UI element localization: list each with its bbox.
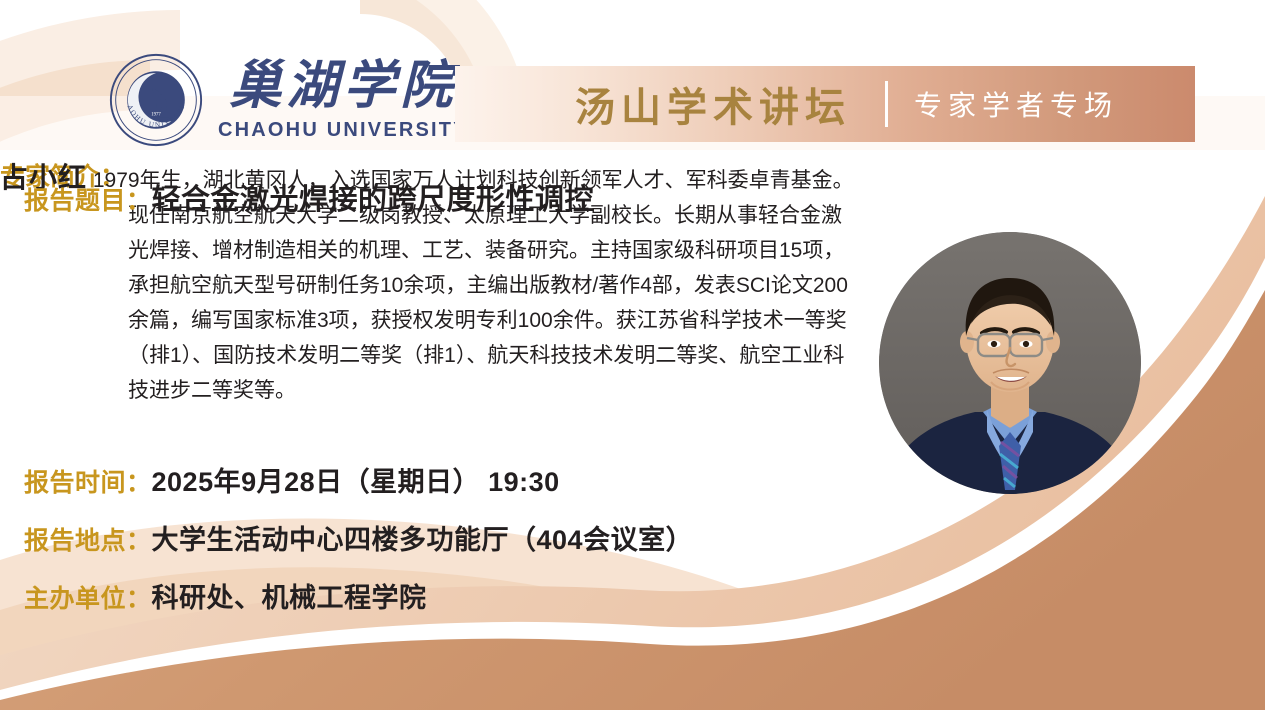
lecture-host-value: 科研处、机械工程学院 xyxy=(152,576,427,615)
speaker-portrait xyxy=(879,232,1141,494)
lecture-time-value: 2025年9月28日（星期日） 19:30 xyxy=(152,460,560,499)
lecture-host-label: 主办单位： xyxy=(24,579,152,615)
university-emblem-icon: 1977 CHAOHU UNIVERSITY xyxy=(108,52,204,148)
lecture-host-row: 主办单位： 科研处、机械工程学院 xyxy=(24,576,427,615)
series-banner: 汤山学术讲坛 专家学者专场 xyxy=(455,66,1195,142)
lecture-place-label: 报告地点： xyxy=(24,521,152,557)
emblem-year-text: 1977 xyxy=(151,112,161,117)
banner-divider xyxy=(885,81,888,127)
university-name-cn: 巢湖学院 xyxy=(229,61,457,113)
lecture-time-label: 报告时间： xyxy=(24,463,152,499)
poster-header: 1977 CHAOHU UNIVERSITY 巢湖学院 CHAOHU UNIVE… xyxy=(0,0,1265,160)
lecture-title-value: 轻合金激光焊接的跨尺度形性调控 xyxy=(152,176,595,218)
university-logo: 1977 CHAOHU UNIVERSITY 巢湖学院 CHAOHU UNIVE… xyxy=(108,52,469,148)
poster-root: 1977 CHAOHU UNIVERSITY 巢湖学院 CHAOHU UNIVE… xyxy=(0,0,1265,710)
university-wordmark: 巢湖学院 CHAOHU UNIVERSITY xyxy=(218,61,469,140)
lecture-title-row: 报告题目： 轻合金激光焊接的跨尺度形性调控 xyxy=(24,176,594,218)
lecture-place-value: 大学生活动中心四楼多功能厅（404会议室） xyxy=(152,518,694,557)
lecture-place-row: 报告地点： 大学生活动中心四楼多功能厅（404会议室） xyxy=(24,518,693,557)
lecture-time-row: 报告时间： 2025年9月28日（星期日） 19:30 xyxy=(24,460,560,499)
speaker-portrait-image xyxy=(879,232,1141,494)
lecture-title-label: 报告题目： xyxy=(24,181,152,217)
university-name-en: CHAOHU UNIVERSITY xyxy=(218,120,469,140)
series-banner-subtitle: 专家学者专场 xyxy=(914,84,1118,124)
series-banner-title: 汤山学术讲坛 xyxy=(575,75,851,133)
